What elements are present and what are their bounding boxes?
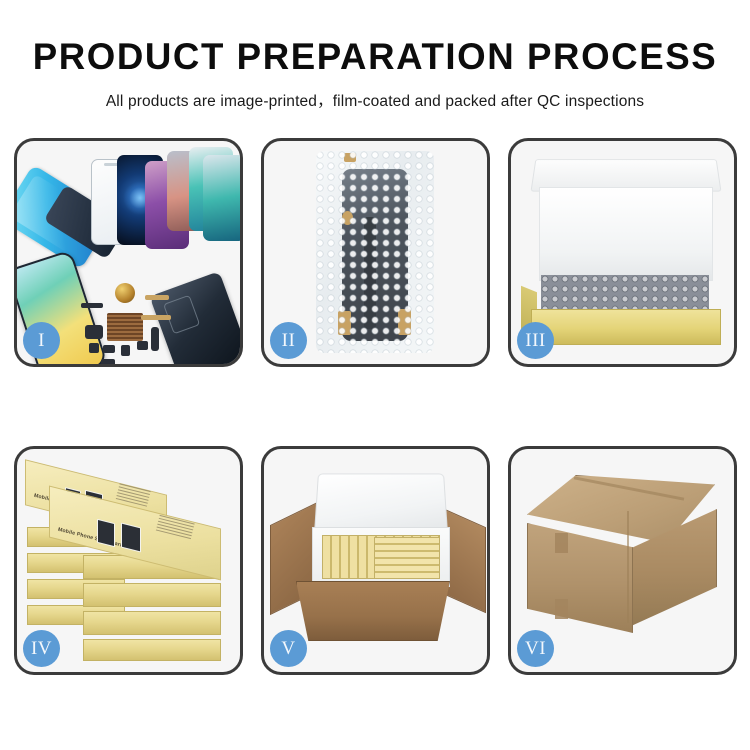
- flex-cable-2: [141, 315, 171, 320]
- page-header: PRODUCT PREPARATION PROCESS All products…: [0, 0, 750, 111]
- bubble-wrap-bag-image: [316, 151, 434, 353]
- flex-cable-1: [145, 295, 169, 300]
- box-window-3: [97, 519, 115, 547]
- foam-sheet-image: [539, 187, 713, 281]
- step-badge-3: III: [517, 322, 554, 359]
- speaker-part-icon: [115, 283, 135, 303]
- carton-tape-lower: [555, 599, 568, 619]
- bubble-texture: [316, 151, 434, 353]
- step-panel-3[interactable]: III: [508, 138, 737, 367]
- step-badge-6: VI: [517, 630, 554, 667]
- page-title: PRODUCT PREPARATION PROCESS: [4, 38, 747, 77]
- bubble-padding-image: [541, 275, 709, 313]
- part-chip-4: [137, 341, 148, 350]
- box-front-panel: [531, 309, 721, 345]
- step-badge-4: IV: [23, 630, 60, 667]
- stacked-box: [83, 639, 221, 661]
- stacked-box: [83, 583, 221, 607]
- phone-teal-2-image: [203, 155, 240, 241]
- logic-board-chip-image: [107, 313, 143, 341]
- step-badge-1: I: [23, 322, 60, 359]
- step-panel-6[interactable]: VI: [508, 446, 737, 675]
- part-bracket: [151, 327, 159, 351]
- small-parts-cluster: [81, 281, 177, 364]
- foam-cooler-lid-image: [314, 473, 448, 534]
- stacked-box: [83, 611, 221, 635]
- step-badge-2: II: [270, 322, 307, 359]
- packed-boxes-image-2: [374, 537, 440, 579]
- part-chip-3: [121, 345, 130, 356]
- part-chip-5: [101, 359, 115, 364]
- carton-tape-upper: [555, 533, 568, 553]
- part-chip-2: [103, 345, 115, 353]
- box-window-4: [121, 523, 141, 553]
- carton-front-panel: [296, 581, 450, 641]
- step-badge-5: V: [270, 630, 307, 667]
- step-panel-2[interactable]: II: [261, 138, 490, 367]
- part-strip: [81, 303, 103, 308]
- page-subtitle: All products are image-printed，film-coat…: [0, 89, 750, 111]
- part-block: [85, 325, 103, 339]
- step-panel-4[interactable]: Mobile Phone Spare Parts Mobile Phone Sp…: [14, 446, 243, 675]
- carton-front-panel: [527, 523, 633, 633]
- part-chip: [89, 343, 99, 353]
- carton-corner-edge: [627, 511, 629, 623]
- process-steps-grid: I II III: [14, 138, 736, 675]
- step-panel-5[interactable]: V: [261, 446, 490, 675]
- step-panel-1[interactable]: I: [14, 138, 243, 367]
